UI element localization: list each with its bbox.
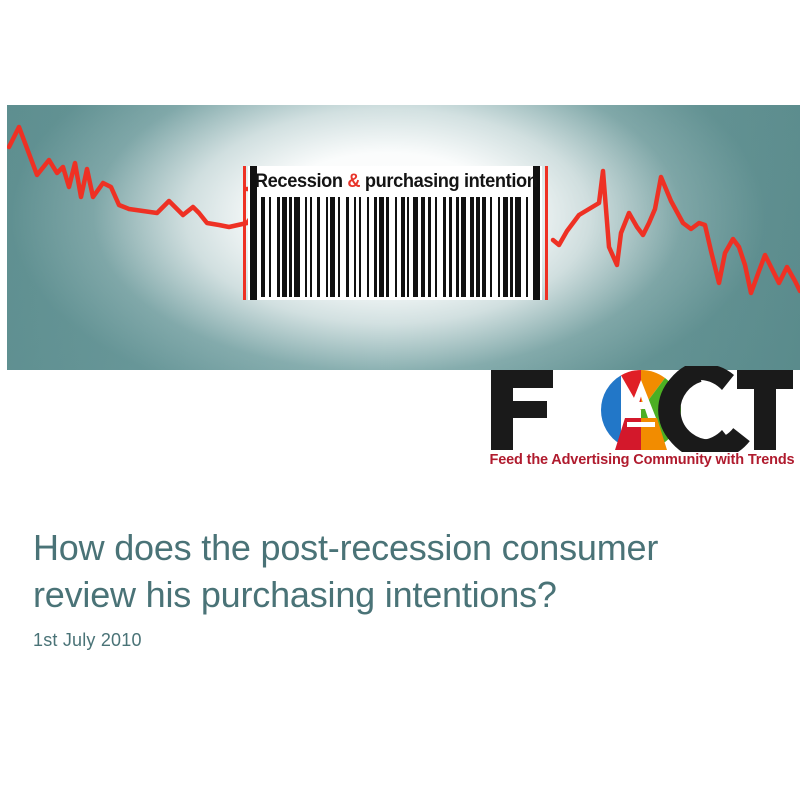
barcode-label-ampersand: &	[347, 171, 360, 192]
slide-date: 1st July 2010	[33, 630, 142, 651]
barcode-bar	[528, 197, 531, 297]
barcode-red-guard-right	[545, 166, 548, 300]
slide-title: How does the post-recession consumer rev…	[33, 524, 753, 618]
fact-logo: Feed the Advertising Community with Tren…	[489, 366, 795, 478]
slide-title-line-1: How does the post-recession consumer	[33, 524, 753, 571]
barcode-label-prefix: Recession	[255, 171, 347, 192]
slide-title-line-2: review his purchasing intentions?	[33, 571, 753, 618]
barcode-red-guard-left	[243, 166, 246, 300]
logo-letter-f	[491, 370, 553, 450]
fact-logo-tagline: Feed the Advertising Community with Tren…	[489, 452, 795, 468]
barcode-body: Recession & purchasing intention	[248, 166, 542, 300]
barcode-label-suffix: purchasing intention	[360, 171, 537, 192]
barcode-graphic: Recession & purchasing intention	[243, 166, 552, 300]
barcode-bars	[261, 197, 531, 297]
barcode-label: Recession & purchasing intention	[262, 168, 530, 196]
trend-line-right	[553, 171, 800, 293]
fact-logo-mark	[489, 366, 795, 452]
